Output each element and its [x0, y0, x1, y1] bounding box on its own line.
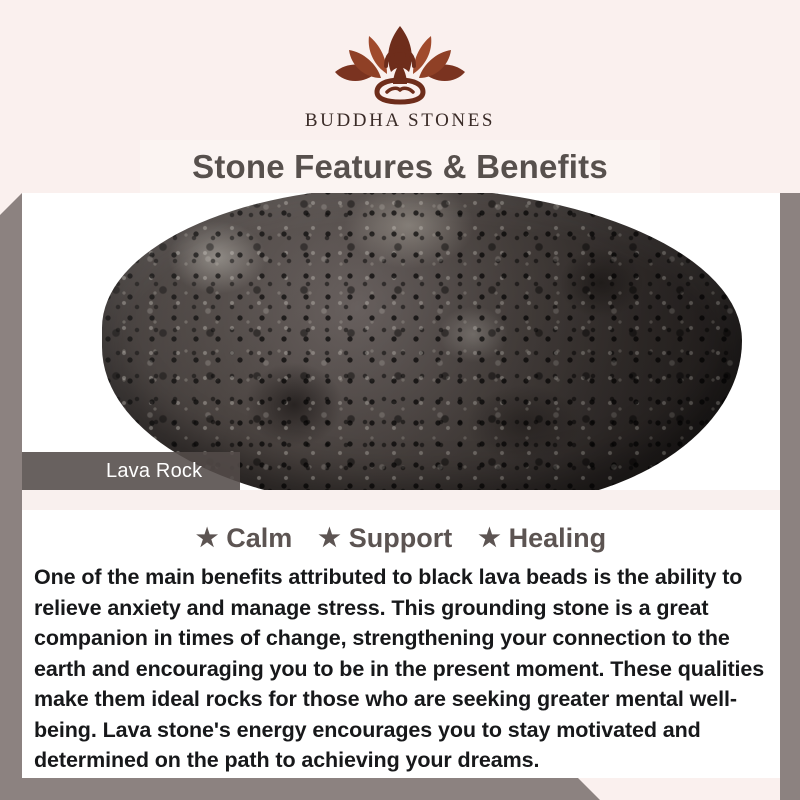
rock-shading-layer	[102, 193, 742, 490]
lotus-meditating-figure-icon	[325, 22, 475, 108]
benefit-item-calm: ★ Calm	[196, 523, 292, 554]
benefit-label-calm: Calm	[226, 523, 292, 554]
page-title: Stone Features & Benefits	[192, 148, 608, 186]
lava-rock-image	[102, 193, 742, 490]
benefit-label-healing: Healing	[509, 523, 607, 554]
benefit-label-support: Support	[349, 523, 452, 554]
star-icon: ★	[196, 526, 218, 551]
title-banner: Stone Features & Benefits	[140, 140, 660, 193]
benefit-item-support: ★ Support	[318, 523, 452, 554]
description-panel: ★ Calm ★ Support ★ Healing One of the ma…	[22, 510, 780, 778]
benefit-item-healing: ★ Healing	[478, 523, 606, 554]
star-icon: ★	[478, 526, 500, 551]
section-divider	[22, 490, 780, 510]
brand-logo: BUDDHA STONES	[0, 22, 800, 132]
description-text: One of the main benefits attributed to b…	[34, 562, 768, 776]
stone-benefits-infographic: BUDDHA STONES Stone Features & Benefits …	[0, 0, 800, 800]
frame-left-bar	[0, 193, 22, 800]
benefit-keywords: ★ Calm ★ Support ★ Healing	[22, 510, 780, 554]
brand-name: BUDDHA STONES	[0, 110, 800, 132]
frame-bottom-bar	[0, 778, 800, 800]
stone-photo	[22, 193, 780, 490]
star-icon: ★	[318, 526, 340, 551]
stone-name-label: Lava Rock	[22, 460, 202, 483]
stone-name-badge: Lava Rock	[22, 452, 240, 490]
